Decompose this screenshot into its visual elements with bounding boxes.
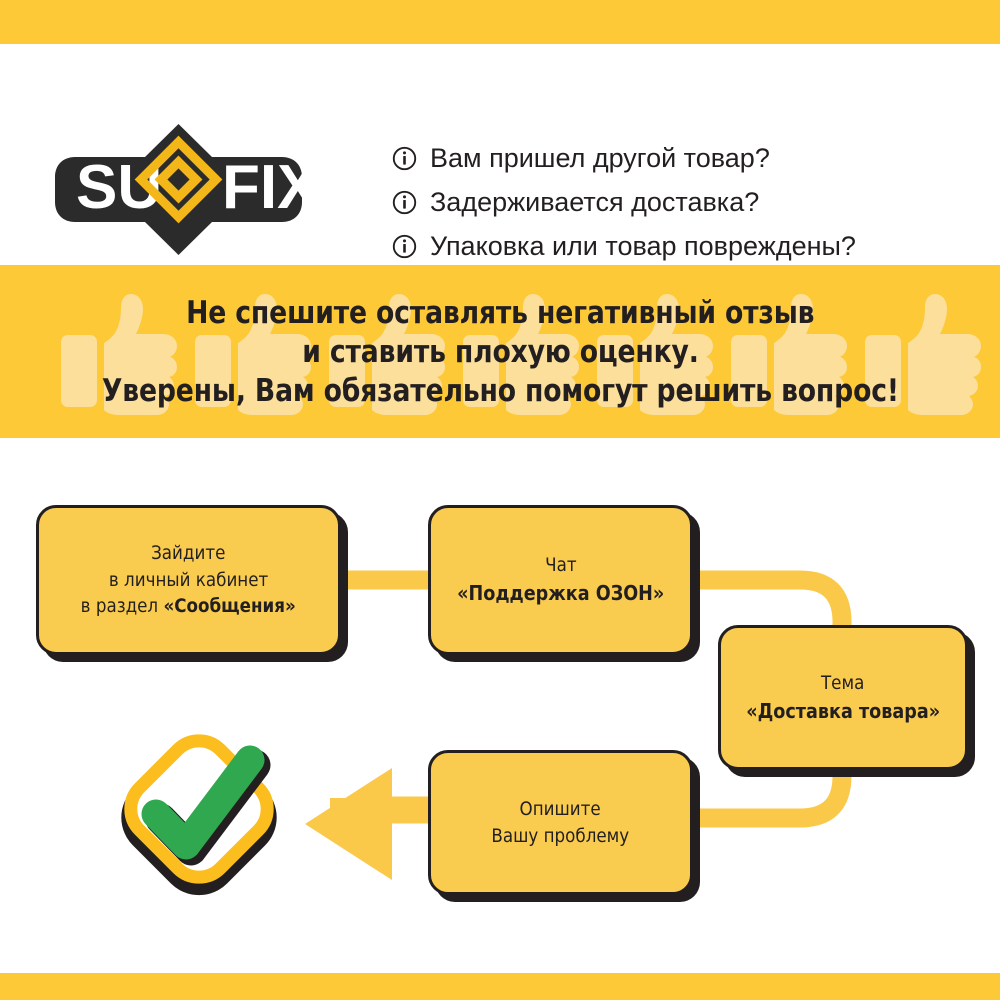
question-label-1: Вам пришел другой товар?: [430, 145, 770, 172]
banner-line-1: Не спешите оставлять негативный отзыв: [186, 295, 814, 331]
questions-list: Вам пришел другой товар? Задерживается д…: [392, 136, 982, 268]
info-icon: [392, 234, 417, 259]
checkmark-badge-icon: [108, 718, 290, 900]
question-row-3: Упаковка или товар повреждены?: [392, 224, 982, 268]
flow-step-3-line-2: «Доставка товара»: [746, 697, 940, 725]
flow-step-4-line-2: Вашу проблему: [492, 823, 630, 850]
info-icon: [392, 146, 417, 171]
flow-step-3[interactable]: Тема «Доставка товара»: [718, 625, 968, 770]
bottom-accent-bar: [0, 973, 1000, 1000]
flow-step-1-line-2: в личный кабинет: [109, 567, 268, 594]
top-accent-bar: [0, 0, 1000, 44]
info-icon: [392, 190, 417, 215]
flow-step-3-line-1: Тема: [821, 670, 864, 697]
flow-step-2-line-1: Чат: [545, 552, 576, 579]
question-row-1: Вам пришел другой товар?: [392, 136, 982, 180]
banner-line-2: и ставить плохую оценку.: [302, 334, 698, 370]
flow-step-4-line-1: Опишите: [520, 796, 601, 823]
infographic-page: SU FIX Вам пришел другой товар?: [0, 0, 1000, 1000]
question-label-3: Упаковка или товар повреждены?: [430, 233, 856, 260]
logo-text-right: FIX: [222, 153, 311, 222]
banner-line-3: Уверены, Вам обязательно помогут решить …: [102, 373, 899, 409]
brand-logo: SU FIX: [46, 122, 311, 257]
header-section: SU FIX Вам пришел другой товар?: [0, 44, 1000, 265]
flow-step-1[interactable]: Зайдите в личный кабинет в раздел «Сообщ…: [36, 505, 341, 655]
flow-step-1-line-3a: в раздел: [81, 595, 164, 617]
flow-step-2-line-2: «Поддержка ОЗОН»: [457, 579, 664, 607]
question-label-2: Задерживается доставка?: [430, 189, 759, 216]
flow-step-4[interactable]: Опишите Вашу проблему: [428, 750, 693, 895]
flow-step-1-line-1: Зайдите: [151, 540, 225, 567]
arrow-shaft: [330, 798, 392, 825]
question-row-2: Задерживается доставка?: [392, 180, 982, 224]
banner-text-block: Не спешите оставлять негативный отзыв и …: [0, 265, 1000, 438]
flow-step-2[interactable]: Чат «Поддержка ОЗОН»: [428, 505, 693, 655]
flow-step-1-line-3: в раздел «Сообщения»: [81, 593, 296, 620]
flow-step-1-line-3b: «Сообщения»: [164, 595, 296, 617]
warning-banner: Не спешите оставлять негативный отзыв и …: [0, 265, 1000, 438]
